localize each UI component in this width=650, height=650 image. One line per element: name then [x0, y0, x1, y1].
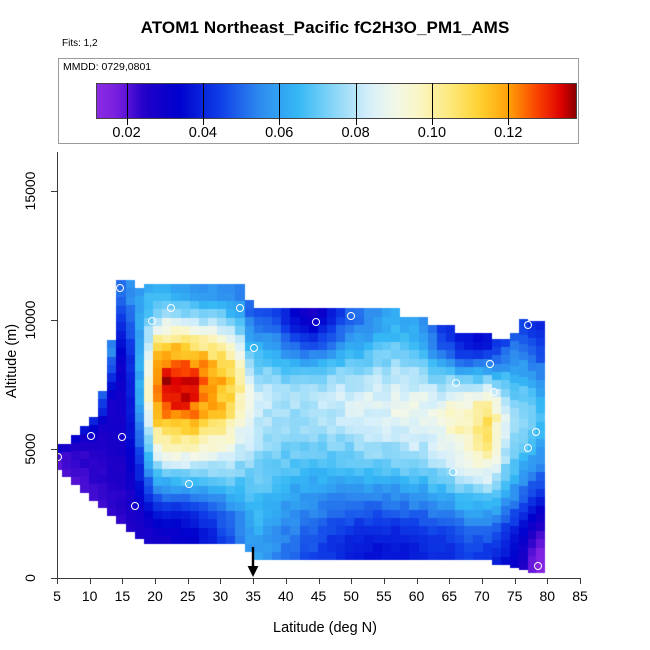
y-axis-tick	[51, 449, 57, 450]
x-axis-tick-label: 25	[180, 588, 196, 604]
mmdd-label: MMDD: 0729,0801	[63, 61, 151, 73]
x-axis-tick-label: 75	[507, 588, 523, 604]
x-axis-tick-label: 30	[213, 588, 229, 604]
colorbar-tick-label: 0.02	[112, 125, 140, 141]
y-axis-tick	[51, 191, 57, 192]
x-axis-tick-label: 15	[115, 588, 131, 604]
x-axis-tick-label: 55	[376, 588, 392, 604]
colorbar-tick-label: 0.12	[494, 125, 522, 141]
x-axis-tick	[188, 578, 189, 584]
x-axis-tick-label: 40	[278, 588, 294, 604]
colorbar-tick	[127, 83, 128, 119]
x-axis-tick-label: 10	[82, 588, 98, 604]
x-axis-tick	[90, 578, 91, 584]
colorbar-tick-label: 0.04	[189, 125, 217, 141]
x-axis-tick	[547, 578, 548, 584]
x-axis-tick-label: 5	[53, 588, 61, 604]
x-axis-tick	[220, 578, 221, 584]
x-axis-tick-label: 45	[311, 588, 327, 604]
colorbar-tick	[279, 83, 280, 119]
x-axis-tick-label: 60	[409, 588, 425, 604]
y-axis-tick	[51, 320, 57, 321]
x-axis-tick	[57, 578, 58, 584]
x-axis-tick	[417, 578, 418, 584]
x-axis-tick-label: 80	[540, 588, 556, 604]
colorbar-tick	[508, 83, 509, 119]
x-axis-tick	[286, 578, 287, 584]
x-axis-tick	[155, 578, 156, 584]
y-axis-tick-label: 5000	[22, 433, 38, 464]
colorbar-tick	[203, 83, 204, 119]
x-axis-title: Latitude (deg N)	[0, 620, 650, 636]
colorbar-tick-label: 0.06	[265, 125, 293, 141]
x-axis-tick	[482, 578, 483, 584]
x-axis-tick-label: 65	[441, 588, 457, 604]
x-axis-tick-label: 70	[474, 588, 490, 604]
x-axis-tick-label: 35	[245, 588, 261, 604]
colorbar-tick-label: 0.10	[418, 125, 446, 141]
colorbar-tick	[356, 83, 357, 119]
x-axis-tick	[580, 578, 581, 584]
page-title: ATOM1 Northeast_Pacific fC2H3O_PM1_AMS	[0, 18, 650, 38]
colorbar: 0.020.040.060.080.100.12	[96, 83, 577, 119]
colorbar-gradient	[96, 83, 577, 119]
x-axis-tick	[515, 578, 516, 584]
x-axis-tick	[384, 578, 385, 584]
y-axis-tick	[51, 578, 57, 579]
x-axis-tick-label: 85	[572, 588, 588, 604]
y-axis-title: Altitude (m)	[4, 261, 20, 461]
x-axis-tick	[449, 578, 450, 584]
x-axis-tick-label: 50	[343, 588, 359, 604]
y-axis-line	[57, 152, 58, 578]
fits-label: Fits: 1,2	[62, 38, 98, 49]
x-axis-tick	[253, 578, 254, 584]
y-axis-tick-label: 0	[22, 574, 38, 582]
colorbar-tick-label: 0.08	[341, 125, 369, 141]
x-axis-tick	[319, 578, 320, 584]
y-axis-tick-label: 15000	[22, 171, 38, 210]
latitude-arrow-icon	[245, 547, 261, 577]
y-axis-tick-label: 10000	[22, 300, 38, 339]
heatmap-canvas	[57, 152, 580, 578]
curtain-plot-root: ATOM1 Northeast_Pacific fC2H3O_PM1_AMS F…	[0, 0, 650, 650]
x-axis-tick-label: 20	[147, 588, 163, 604]
x-axis-tick	[351, 578, 352, 584]
x-axis-tick	[122, 578, 123, 584]
colorbar-tick	[432, 83, 433, 119]
